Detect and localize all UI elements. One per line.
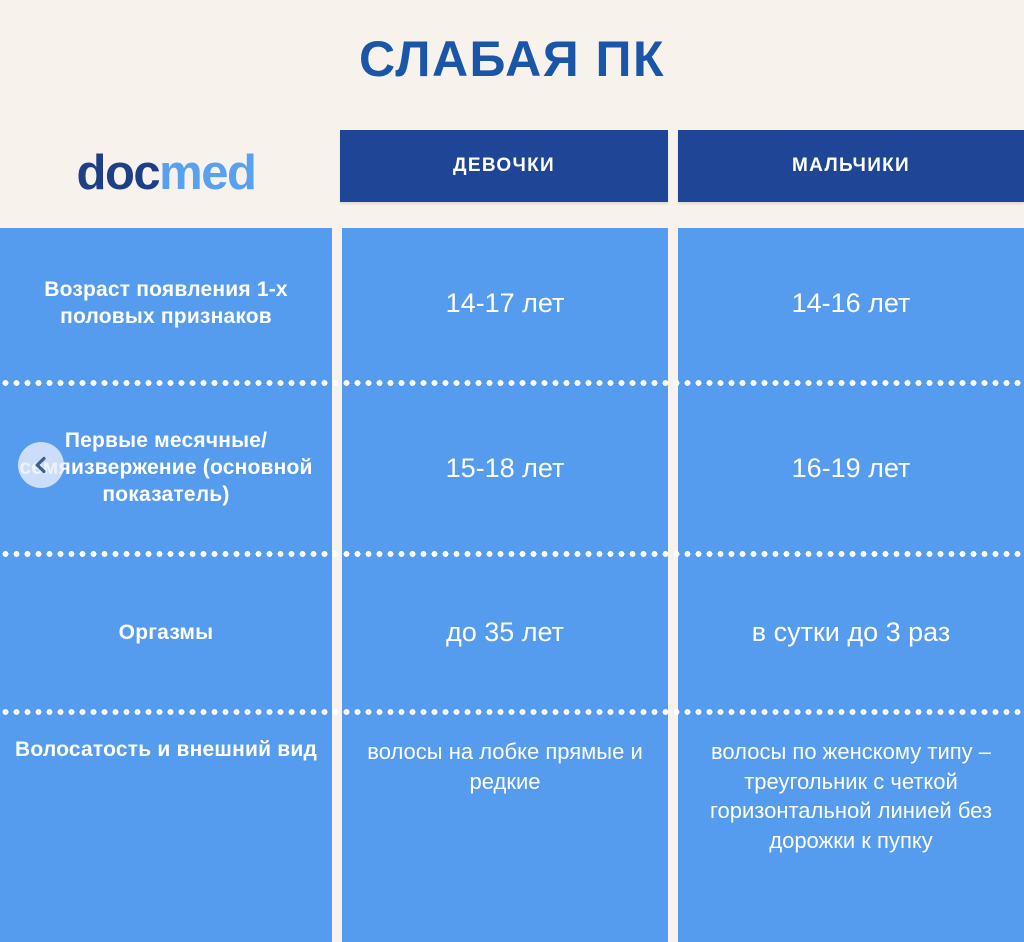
- row-value-boys: 14-16 лет: [678, 228, 1024, 380]
- cell-spacer: [668, 386, 678, 551]
- cell-spacer: [668, 228, 678, 380]
- cell-spacer: [668, 715, 678, 737]
- table-row: Волосатость и внешний вид волосы на лобк…: [0, 715, 1024, 942]
- page-title: СЛАБАЯ ПК: [359, 34, 665, 84]
- row-value-boys: в сутки до 3 раз: [678, 557, 1024, 709]
- cell-spacer: [332, 386, 342, 551]
- cell-spacer: [332, 557, 342, 709]
- column-header-boys-label: МАЛЬЧИКИ: [792, 155, 910, 177]
- cell-spacer: [332, 228, 342, 380]
- logo-part-doc: doc: [77, 146, 160, 200]
- cell-spacer: [332, 715, 342, 737]
- row-label: Оргазмы: [0, 557, 332, 709]
- logo-part-med: med: [159, 146, 255, 200]
- table-body: Возраст появления 1-х половых признаков …: [0, 228, 1024, 942]
- docmed-logo: docmed: [77, 149, 256, 198]
- table-row: Оргазмы до 35 лет в сутки до 3 раз: [0, 557, 1024, 709]
- table-rows: Возраст появления 1-х половых признаков …: [0, 228, 1024, 942]
- row-label: Возраст появления 1-х половых признаков: [0, 228, 332, 380]
- column-header-girls-label: ДЕВОЧКИ: [453, 155, 555, 177]
- table-header-row: docmed ДЕВОЧКИ МАЛЬЧИКИ: [0, 118, 1024, 228]
- row-value-girls: волосы на лобке прямые и редкие: [342, 715, 668, 796]
- row-value-girls: до 35 лет: [342, 557, 668, 709]
- table-row: Возраст появления 1-х половых признаков …: [0, 228, 1024, 380]
- row-value-boys: 16-19 лет: [678, 386, 1024, 551]
- row-value-girls: 14-17 лет: [342, 228, 668, 380]
- row-value-girls: 15-18 лет: [342, 386, 668, 551]
- cell-spacer: [668, 557, 678, 709]
- infographic-slide: СЛАБАЯ ПК docmed ДЕВОЧКИ МАЛЬЧИКИ Возрас…: [0, 0, 1024, 942]
- brand-cell: docmed: [0, 118, 332, 228]
- column-header-girls: ДЕВОЧКИ: [340, 130, 668, 202]
- row-label: Волосатость и внешний вид: [0, 715, 332, 764]
- chevron-left-icon: [31, 455, 51, 475]
- table-row: Первые месячные/семяизвержение (основной…: [0, 386, 1024, 551]
- carousel-prev-button[interactable]: [18, 442, 64, 488]
- column-header-boys: МАЛЬЧИКИ: [678, 130, 1024, 202]
- title-bar: СЛАБАЯ ПК: [0, 0, 1024, 118]
- row-value-boys: волосы по женскому типу – треугольник с …: [678, 715, 1024, 856]
